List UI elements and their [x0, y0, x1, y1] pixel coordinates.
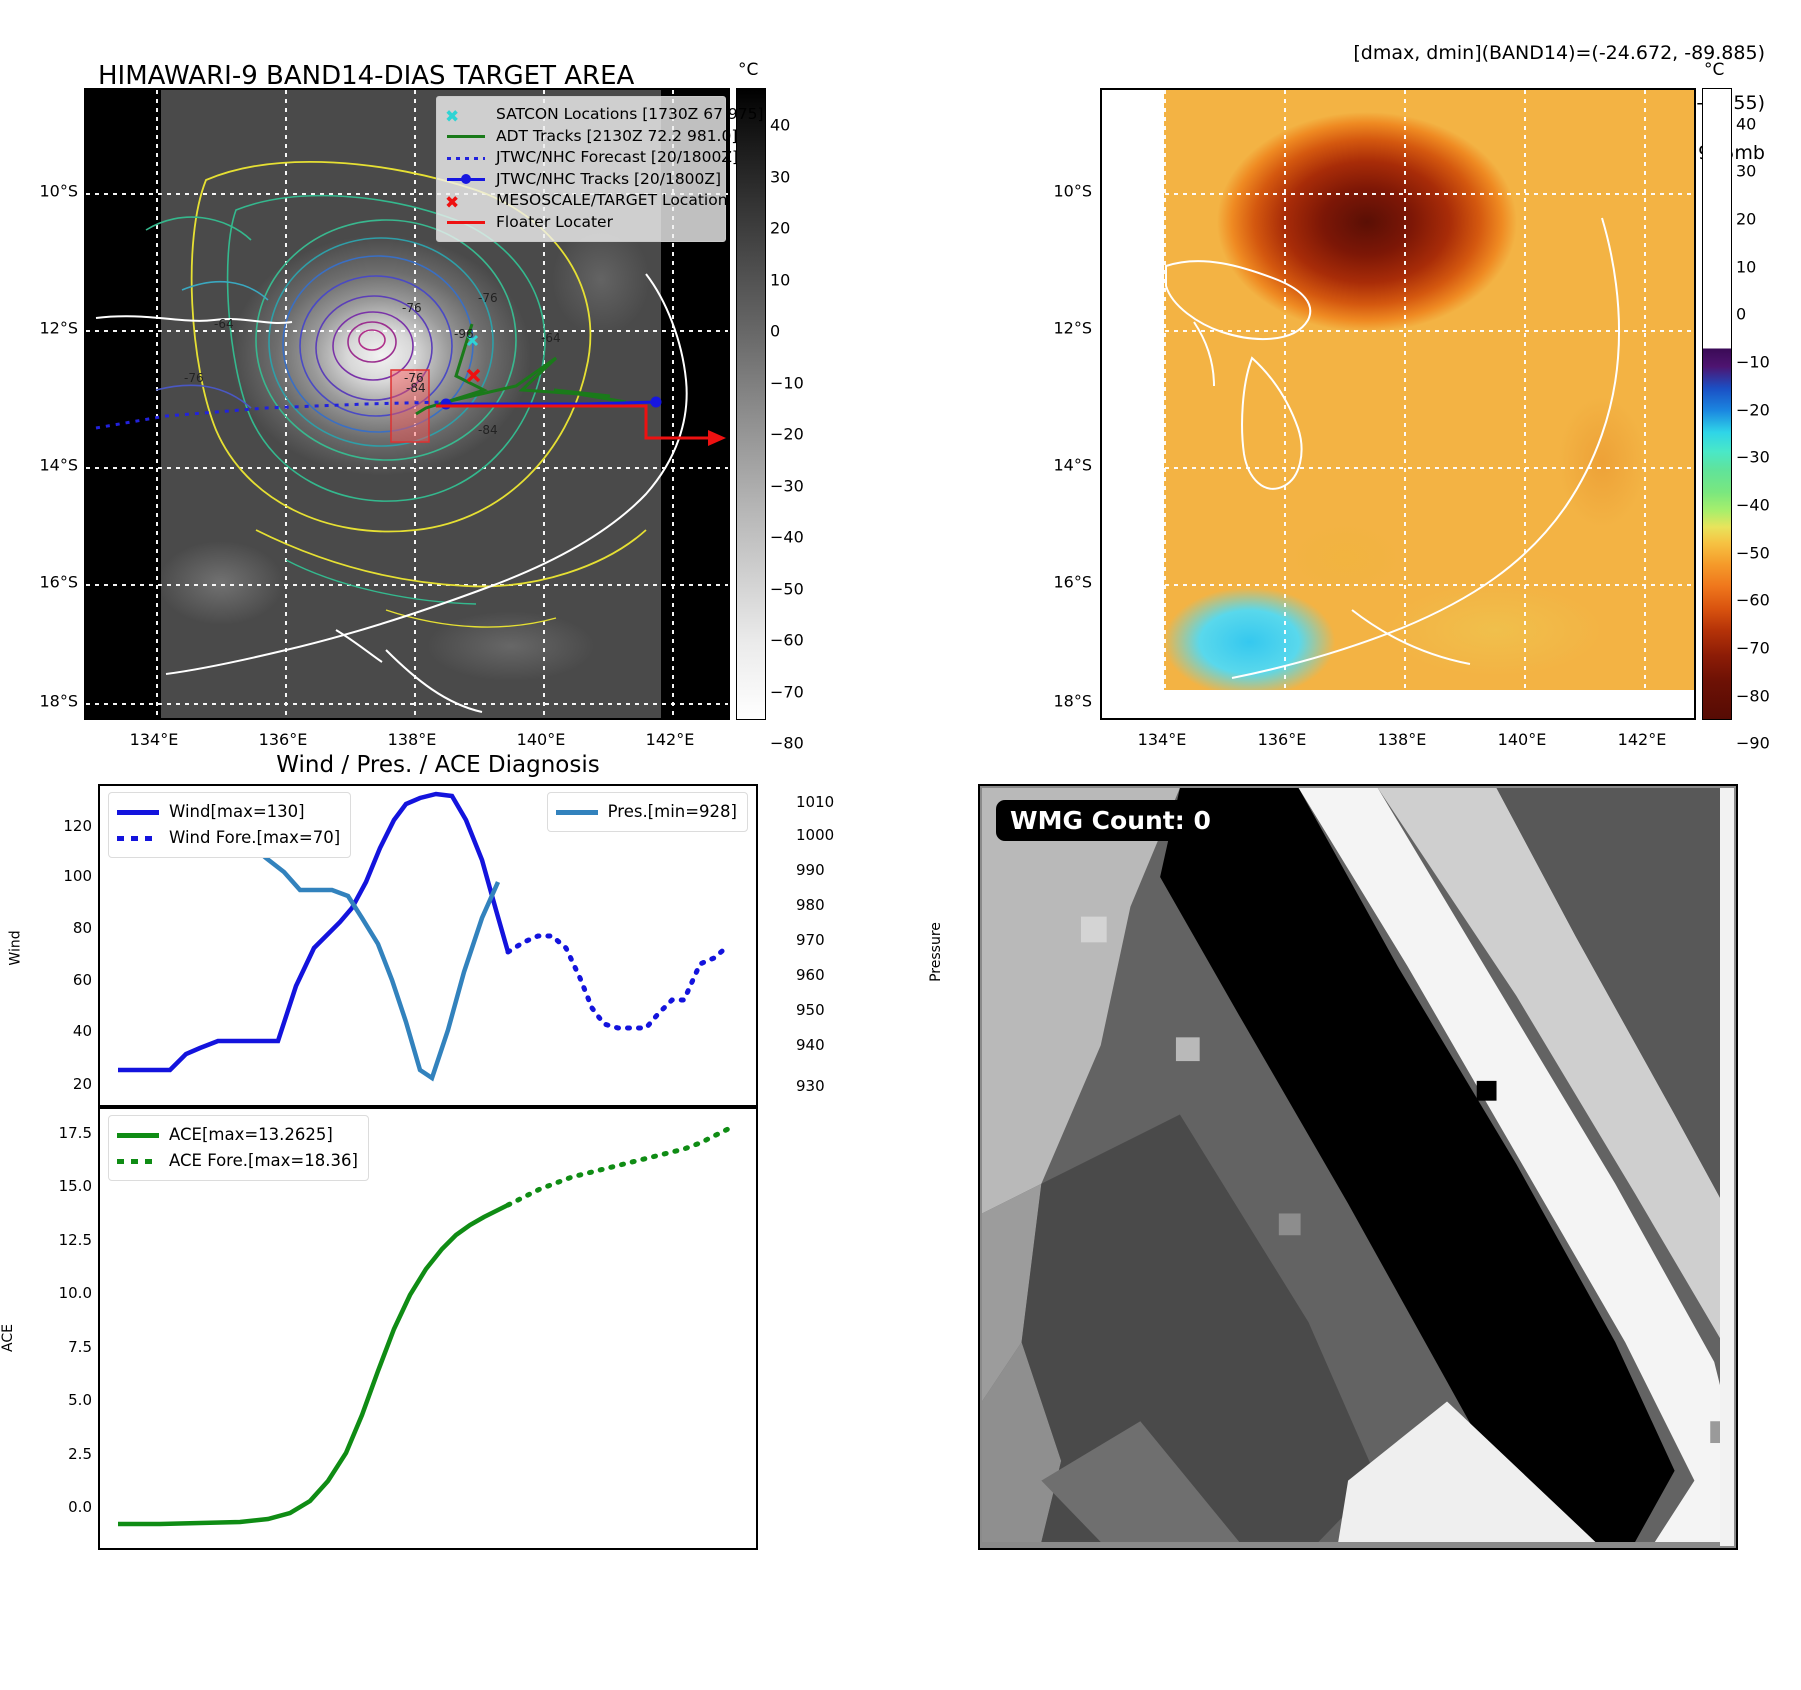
contour-label: -76: [184, 371, 204, 385]
legend-item-wind: Wind[max=130]: [117, 799, 340, 825]
pressure-axis-title: Pressure: [928, 922, 944, 982]
wind-axis-title: Wind: [8, 930, 24, 965]
legend-item-jtwc-tracks: JTWC/NHC Tracks [20/1800Z]: [445, 169, 717, 191]
legend-item-ace: ACE[max=13.2625]: [117, 1122, 358, 1148]
coastline-overlay-right: [1102, 90, 1696, 720]
red-x-icon: ✖: [445, 193, 487, 209]
pressure-legend: Pres.[min=928]: [547, 792, 748, 832]
legend-item-wind-forecast: Wind Fore.[max=70]: [117, 825, 340, 851]
wmg-count-badge: WMG Count: 0: [996, 800, 1225, 841]
blue-dotted-line-icon: [117, 830, 159, 846]
pressure-y-axis: 1010 1000 990 980 970 960 950 940 930: [766, 784, 866, 1107]
top-right-lat-axis: 10°S 12°S 14°S 16°S 18°S: [1014, 88, 1092, 720]
top-left-lat-axis: 10°S 12°S 14°S 16°S 18°S: [0, 88, 78, 720]
wind-pressure-chart[interactable]: Wind[max=130] Wind Fore.[max=70] Pres.[m…: [98, 784, 758, 1107]
series-wind-forecast: [508, 936, 728, 1028]
wmg-right-scale: [1720, 788, 1734, 1546]
legend-item-satcon: ✖ SATCON Locations [1730Z 67 975]: [445, 104, 717, 126]
wind-legend: Wind[max=130] Wind Fore.[max=70]: [108, 792, 351, 858]
wmg-pattern-panel[interactable]: WMG Count: 0: [978, 784, 1738, 1550]
top-right-lon-axis: 134°E 136°E 138°E 140°E 142°E: [1100, 730, 1696, 758]
contour-label: -64: [541, 331, 561, 345]
colorbar-unit-left: °C: [738, 60, 758, 80]
cyan-x-icon: ✖: [445, 107, 487, 123]
enhanced-temperature-colorbar: [1702, 88, 1732, 720]
green-dotted-line-icon: [117, 1153, 159, 1169]
ace-axis-title: ACE: [0, 1324, 16, 1352]
blue-dotted-line-icon: [445, 150, 487, 166]
legend-item-pressure: Pres.[min=928]: [556, 799, 737, 825]
contour-label: -96: [454, 327, 474, 341]
contour-label: -64: [214, 317, 234, 331]
legend-item-adt-tracks: ADT Tracks [2130Z 72.2 981.0]: [445, 126, 717, 148]
legend-item-ace-forecast: ACE Fore.[max=18.36]: [117, 1148, 358, 1174]
map-legend: ✖ SATCON Locations [1730Z 67 975] ADT Tr…: [436, 96, 726, 242]
green-line-icon: [445, 128, 487, 144]
colorbar-unit-right: °C: [1704, 60, 1724, 80]
ace-chart[interactable]: ACE[max=13.2625] ACE Fore.[max=18.36]: [98, 1107, 758, 1550]
red-line-icon: [445, 214, 487, 230]
diagnosis-chart-title: Wind / Pres. / ACE Diagnosis: [98, 752, 778, 778]
steelblue-solid-line-icon: [556, 804, 598, 820]
legend-item-jtwc-forecast: JTWC/NHC Forecast [20/1800Z]: [445, 147, 717, 169]
contour-label: -76: [478, 291, 498, 305]
legend-item-floater-locater: Floater Locater: [445, 212, 717, 234]
ace-legend: ACE[max=13.2625] ACE Fore.[max=18.36]: [108, 1115, 369, 1181]
blue-line-marker-icon: [445, 171, 487, 187]
contour-label: -84: [478, 423, 498, 437]
series-ace-forecast: [508, 1127, 732, 1205]
legend-item-mesoscale-target: ✖ MESOSCALE/TARGET Location: [445, 190, 717, 212]
series-ace: [118, 1205, 508, 1524]
colorbar-ticks-right: 40 30 20 10 0 −10 −20 −30 −40 −50 −60 −7…: [1736, 88, 1801, 720]
green-solid-line-icon: [117, 1127, 159, 1143]
colorbar-ticks-left: 40 30 20 10 0 −10 −20 −30 −40 −50 −60 −7…: [770, 88, 840, 720]
wmg-pattern-canvas: [982, 788, 1734, 1542]
satellite-map-enhanced-color[interactable]: [1100, 88, 1696, 720]
contour-label: -76: [402, 301, 422, 315]
grayscale-temperature-colorbar: [736, 88, 766, 720]
blue-solid-line-icon: [117, 804, 159, 820]
contour-label: -84: [406, 381, 426, 395]
